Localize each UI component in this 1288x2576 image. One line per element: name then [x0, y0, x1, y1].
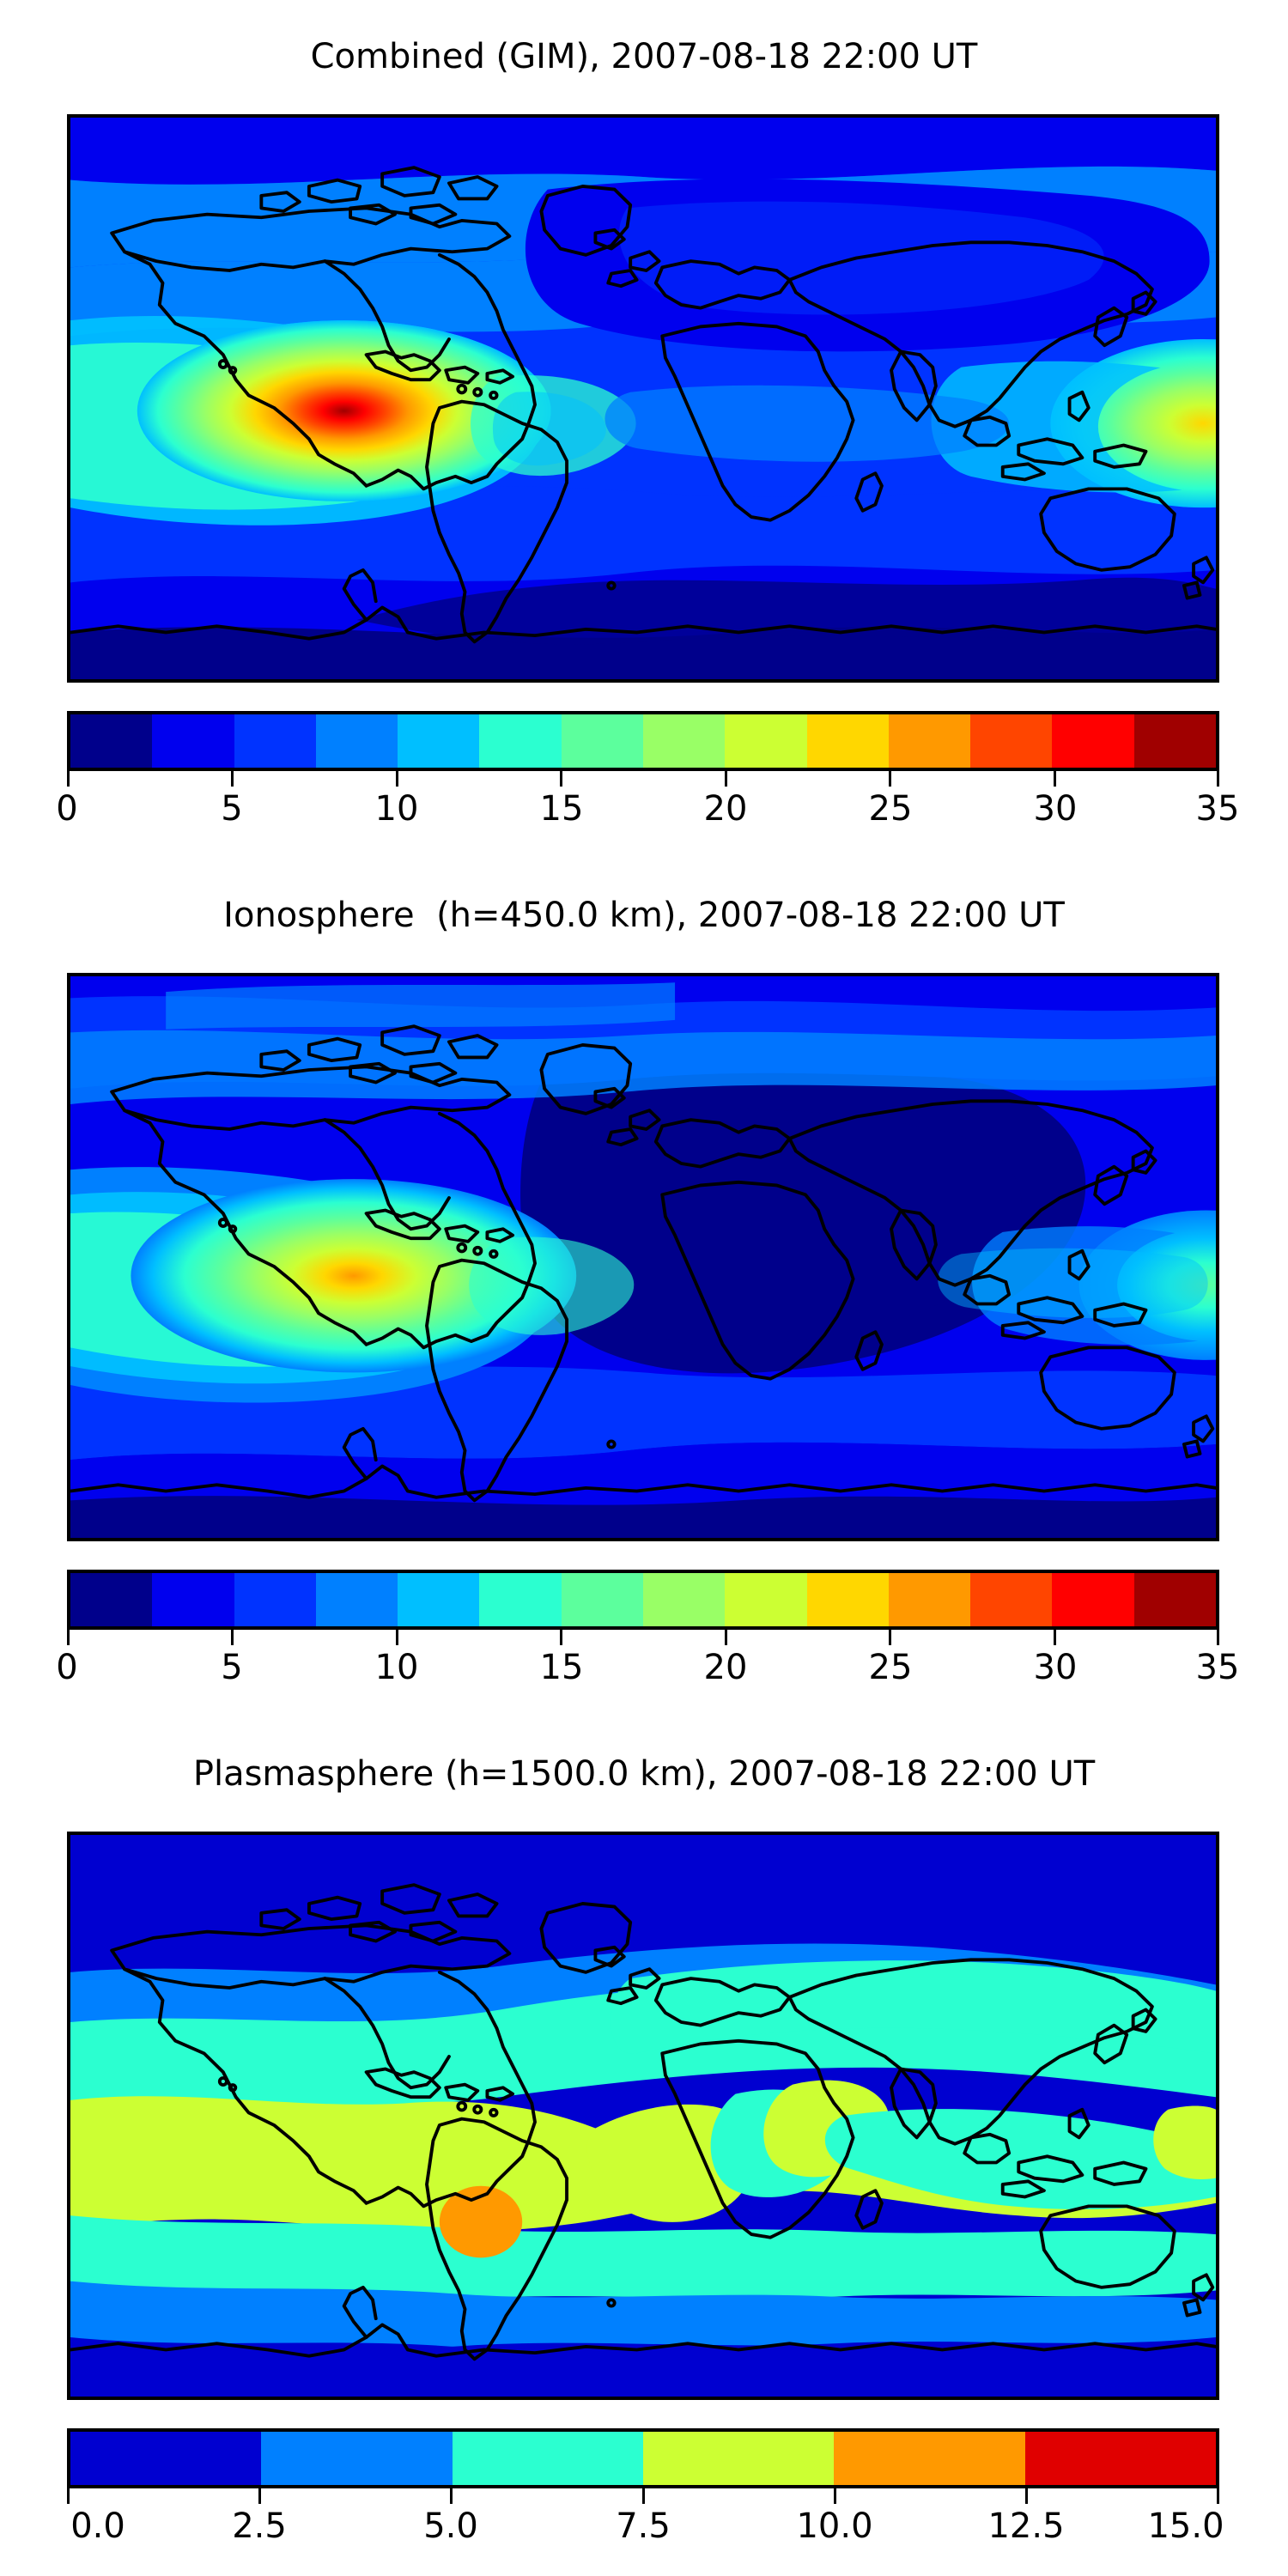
cbar-tick [1217, 1630, 1219, 1645]
cbar-band [152, 1573, 234, 1626]
cbar-tick [396, 1630, 398, 1645]
cbar-band [234, 1573, 316, 1626]
cbar-tick [642, 2488, 645, 2504]
cbar-tick-label: 20 [704, 788, 748, 829]
cbar-band [398, 714, 479, 768]
cbar-band [479, 1573, 561, 1626]
panel-title-combined-gim: Combined (GIM), 2007-08-18 22:00 UT [0, 36, 1288, 77]
colorbar-gradient-combined-gim [67, 711, 1219, 771]
panel-title-ionosphere: Ionosphere (h=450.0 km), 2007-08-18 22:0… [0, 895, 1288, 936]
cbar-tick [67, 1630, 70, 1645]
colorbar-plasmasphere: 0.0 2.5 5.0 7.5 10.0 12.5 15.0 [67, 2428, 1212, 2549]
colorbar-gradient-plasmasphere [67, 2428, 1219, 2488]
colorbar-combined-gim: 0 5 10 15 20 25 30 35 [67, 711, 1212, 831]
cbar-tick-label: 0 [56, 1647, 77, 1688]
cbar-tick [258, 2488, 261, 2504]
cbar-tick-label: 35 [1196, 788, 1240, 829]
cbar-band [725, 714, 806, 768]
cbar-tick [1217, 2488, 1219, 2504]
cbar-tick-label: 5 [221, 1647, 242, 1688]
cbar-band [70, 2432, 261, 2485]
map-plasmasphere [67, 1832, 1219, 2400]
cbar-tick [725, 771, 727, 787]
cbar-tick [67, 771, 70, 787]
contour-layer-combined-gim [70, 118, 1216, 679]
cbar-tick-label: 10 [375, 788, 419, 829]
colorbar-gradient-ionosphere [67, 1570, 1219, 1630]
cbar-band [398, 1573, 479, 1626]
cbar-band [234, 714, 316, 768]
colorbar-ticks-plasmasphere [67, 2488, 1219, 2504]
cbar-tick-label: 30 [1034, 1647, 1078, 1688]
cbar-band [1134, 1573, 1216, 1626]
contour-layer-ionosphere [70, 976, 1216, 1538]
cbar-tick [1025, 2488, 1028, 2504]
panel-plasmasphere: Plasmasphere (h=1500.0 km), 2007-08-18 2… [0, 1717, 1288, 2576]
cbar-tick-label: 30 [1034, 788, 1078, 829]
cbar-tick-label: 15 [540, 1647, 584, 1688]
cbar-tick-label: 5 [221, 788, 242, 829]
cbar-band [70, 1573, 152, 1626]
cbar-band [643, 2432, 834, 2485]
cbar-tick-label: 0 [56, 788, 77, 829]
cbar-band [1052, 714, 1133, 768]
cbar-band [970, 1573, 1052, 1626]
colorbar-labels-combined-gim: 0 5 10 15 20 25 30 35 [67, 787, 1219, 831]
cbar-tick-label: 10 [375, 1647, 419, 1688]
cbar-band [1134, 714, 1216, 768]
cbar-tick [560, 1630, 562, 1645]
colorbar-ionosphere: 0 5 10 15 20 25 30 35 [67, 1570, 1212, 1690]
cbar-tick-label: 12.5 [987, 2506, 1064, 2547]
cbar-tick [1217, 771, 1219, 787]
map-svg-combined-gim [70, 118, 1216, 679]
cbar-band [643, 1573, 725, 1626]
cbar-band [152, 714, 234, 768]
cbar-tick-label: 15.0 [1147, 2506, 1224, 2547]
cbar-tick-label: 35 [1196, 1647, 1240, 1688]
panel-ionosphere: Ionosphere (h=450.0 km), 2007-08-18 22:0… [0, 859, 1288, 1717]
cbar-tick [889, 1630, 891, 1645]
cbar-tick [67, 2488, 70, 2504]
cbar-band [834, 2432, 1024, 2485]
cbar-band [889, 1573, 970, 1626]
cbar-tick-label: 5.0 [423, 2506, 478, 2547]
cbar-tick [231, 1630, 234, 1645]
colorbar-labels-ionosphere: 0 5 10 15 20 25 30 35 [67, 1645, 1219, 1690]
cbar-tick [560, 771, 562, 787]
panel-title-plasmasphere: Plasmasphere (h=1500.0 km), 2007-08-18 2… [0, 1753, 1288, 1795]
cbar-tick-label: 2.5 [232, 2506, 287, 2547]
cbar-band [70, 714, 152, 768]
map-svg-ionosphere [70, 976, 1216, 1538]
cbar-band [562, 714, 643, 768]
cbar-tick-label: 20 [704, 1647, 748, 1688]
cbar-tick [889, 771, 891, 787]
map-svg-plasmasphere [70, 1835, 1216, 2397]
panel-combined-gim: Combined (GIM), 2007-08-18 22:00 UT [0, 0, 1288, 859]
cbar-band [316, 714, 398, 768]
cbar-tick [834, 2488, 836, 2504]
cbar-band [479, 714, 561, 768]
cbar-tick-label: 25 [869, 788, 913, 829]
cbar-band [643, 714, 725, 768]
map-combined-gim [67, 114, 1219, 683]
cbar-tick [725, 1630, 727, 1645]
cbar-tick [450, 2488, 453, 2504]
cbar-tick-label: 25 [869, 1647, 913, 1688]
cbar-tick [1054, 771, 1056, 787]
cbar-band [807, 1573, 889, 1626]
cbar-band [807, 714, 889, 768]
cbar-band [316, 1573, 398, 1626]
colorbar-ticks-ionosphere [67, 1630, 1219, 1645]
cbar-band [261, 2432, 452, 2485]
figure-canvas: Combined (GIM), 2007-08-18 22:00 UT [0, 0, 1288, 2576]
cbar-band [453, 2432, 643, 2485]
map-ionosphere [67, 973, 1219, 1541]
cbar-tick [396, 771, 398, 787]
cbar-tick [1054, 1630, 1056, 1645]
cbar-band [970, 714, 1052, 768]
cbar-tick-label: 15 [540, 788, 584, 829]
cbar-band [1025, 2432, 1216, 2485]
colorbar-ticks-combined-gim [67, 771, 1219, 787]
cbar-band [562, 1573, 643, 1626]
cbar-band [1052, 1573, 1133, 1626]
cbar-tick [231, 771, 234, 787]
contour-layer-plasmasphere [70, 1835, 1216, 2397]
cbar-tick-label: 10.0 [796, 2506, 872, 2547]
cbar-tick-label: 0.0 [70, 2506, 125, 2547]
cbar-band [725, 1573, 806, 1626]
cbar-band [889, 714, 970, 768]
colorbar-labels-plasmasphere: 0.0 2.5 5.0 7.5 10.0 12.5 15.0 [67, 2504, 1219, 2549]
cbar-tick-label: 7.5 [616, 2506, 671, 2547]
